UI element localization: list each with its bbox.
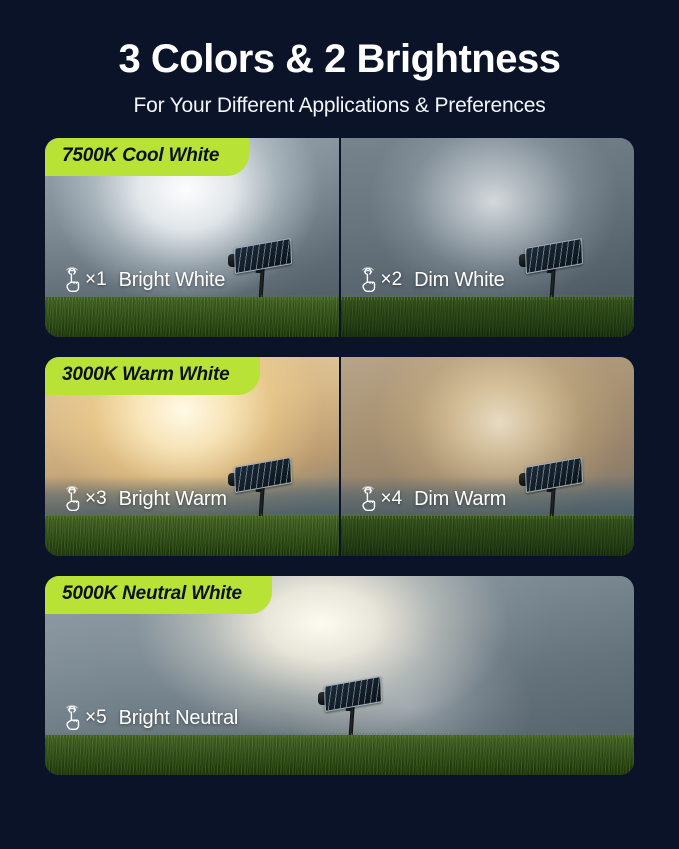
mode-name: Dim Warm	[414, 488, 506, 511]
tap-count: ×3	[85, 488, 107, 510]
badge-warm-white: 3000K Warm White	[45, 357, 260, 395]
tap-hand-icon	[59, 486, 83, 512]
color-mode-rows: ×1 Bright White	[0, 138, 679, 775]
grass-strip	[45, 516, 339, 556]
mode-name: Bright Neutral	[119, 707, 238, 730]
mode-label-bright-neutral: ×5 Bright Neutral	[59, 705, 238, 731]
row-cool-white: ×1 Bright White	[45, 138, 634, 337]
mode-name: Bright White	[119, 269, 226, 292]
badge-cool-white: 7500K Cool White	[45, 138, 249, 176]
tap-hand-icon	[59, 267, 83, 293]
mode-name: Bright Warm	[119, 488, 227, 511]
panel-dim-warm[interactable]: ×4 Dim Warm	[339, 357, 635, 556]
tap-hand-icon	[59, 705, 83, 731]
panel-dim-white[interactable]: ×2 Dim White	[339, 138, 635, 337]
grass-strip	[45, 735, 634, 775]
page-header: 3 Colors & 2 Brightness For Your Differe…	[0, 0, 679, 118]
tap-count: ×5	[85, 707, 107, 729]
tap-count: ×4	[381, 488, 403, 510]
tap-count: ×1	[85, 269, 107, 291]
grass-strip	[45, 297, 339, 337]
grass-strip	[341, 516, 635, 556]
row-neutral-white: ×5 Bright Neutral 5000K Neutral White	[45, 576, 634, 775]
mode-label-dim-white: ×2 Dim White	[355, 267, 505, 293]
grass-edge	[341, 295, 635, 300]
grass-edge	[45, 514, 339, 519]
tap-hand-icon	[355, 486, 379, 512]
grass-edge	[45, 295, 339, 300]
page-subtitle: For Your Different Applications & Prefer…	[0, 94, 679, 118]
mode-label-dim-warm: ×4 Dim Warm	[355, 486, 507, 512]
grass-edge	[341, 514, 635, 519]
grass-strip	[341, 297, 635, 337]
page-title: 3 Colors & 2 Brightness	[0, 38, 679, 80]
mode-label-bright-white: ×1 Bright White	[59, 267, 225, 293]
grass-edge	[45, 733, 634, 738]
tap-hand-icon	[355, 267, 379, 293]
badge-neutral-white: 5000K Neutral White	[45, 576, 272, 614]
row-warm-white: ×3 Bright Warm	[45, 357, 634, 556]
mode-label-bright-warm: ×3 Bright Warm	[59, 486, 227, 512]
mode-name: Dim White	[414, 269, 504, 292]
tap-count: ×2	[381, 269, 403, 291]
